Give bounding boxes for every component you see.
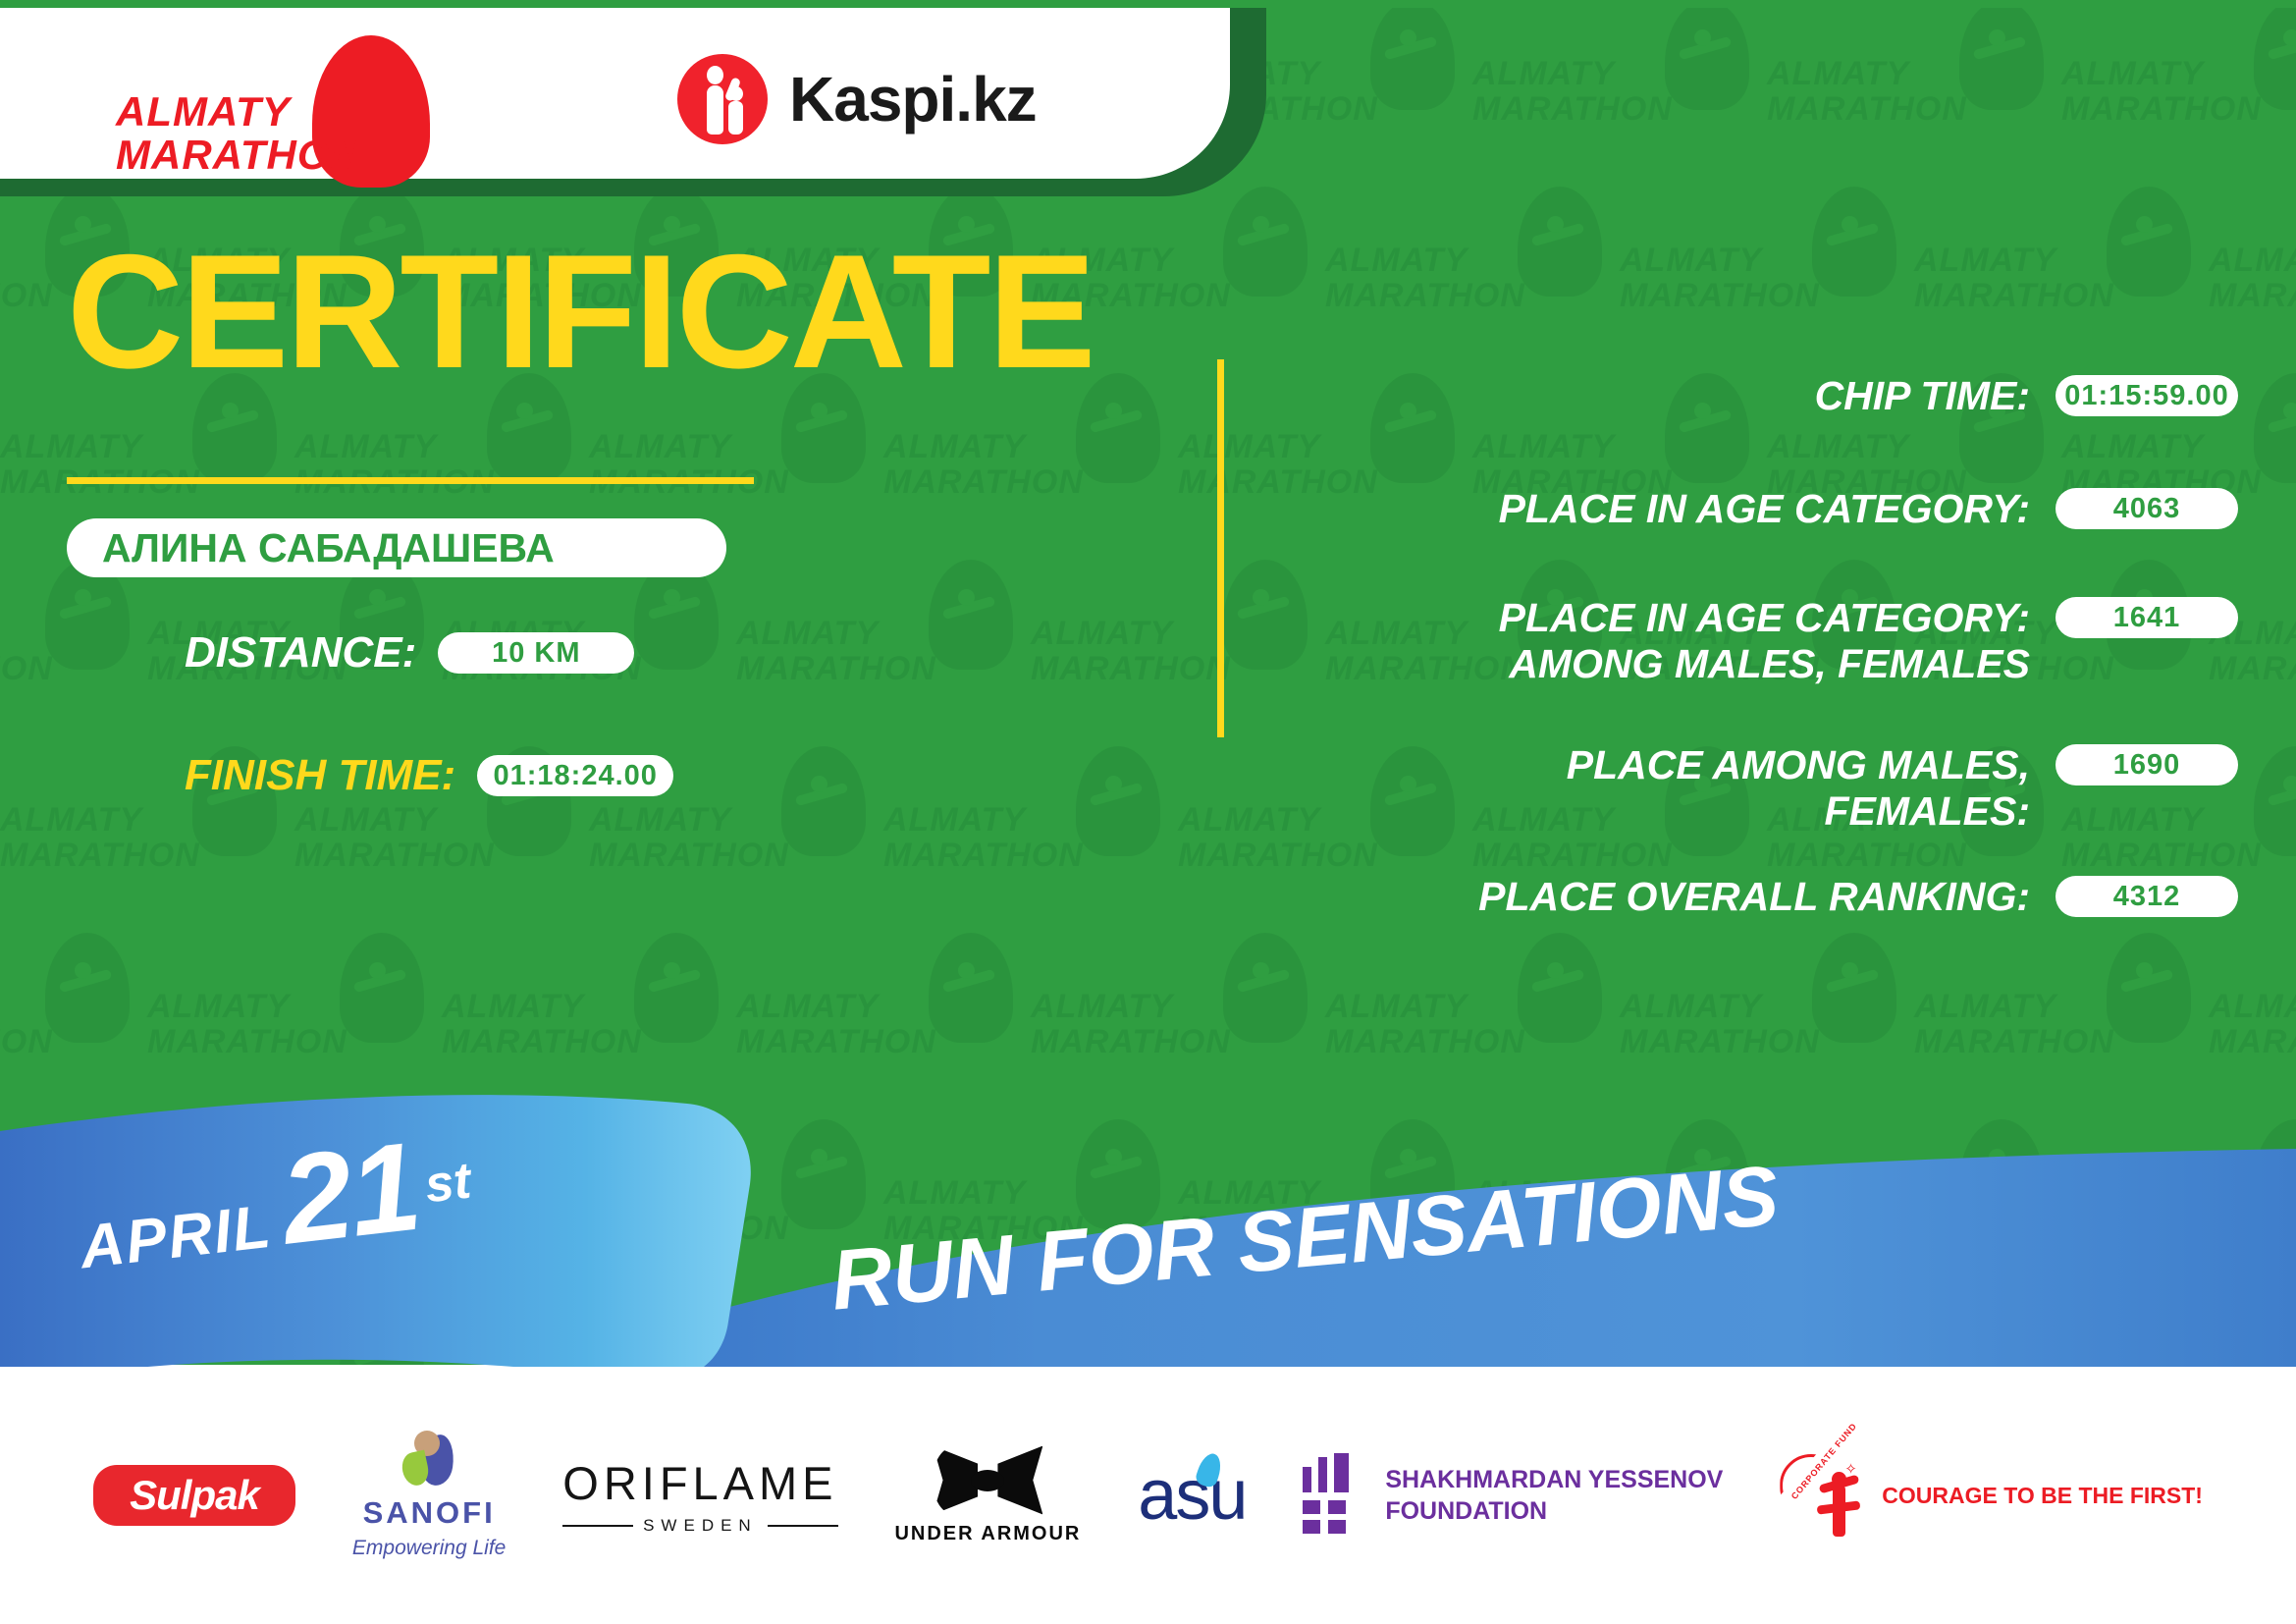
watermark-tile: ALMATYMARATHON [1767, 1119, 2061, 1306]
finish-time-label: FINISH TIME: [185, 751, 455, 800]
stat-row-chip-time: CHIP TIME: 01:15:59.00 [1237, 373, 2238, 419]
watermark-tile: ALMATYMARATHON [147, 933, 442, 1119]
watermark-tile: ALMATYMARATHON [1620, 1306, 1914, 1365]
courage-wordmark: COURAGE TO BE THE FIRST! [1882, 1482, 2203, 1509]
watermark-tile: ALMATYMARATHON [736, 933, 1031, 1119]
watermark-tile: ALMATYMARATHON [2209, 1306, 2296, 1365]
almaty-marathon-wordmark: ALMATY MARATHON [116, 90, 361, 177]
kaspi-people-icon [677, 54, 768, 144]
oriflame-sub: SWEDEN [562, 1516, 837, 1536]
sponsor-asu: asu [1138, 1455, 1246, 1536]
watermark-tile: ALMATYMARATHON [1914, 187, 2209, 373]
watermark-tile: ALMATYMARATHON [442, 1306, 736, 1365]
stat-label: CHIP TIME: [1237, 373, 2056, 419]
stat-value: 1641 [2113, 602, 2181, 634]
marathon-line: MARATHON [116, 134, 361, 177]
watermark-tile: ALMATYMARATHON [1914, 1306, 2209, 1365]
watermark-tile: ALMATYMARATHON [2061, 0, 2296, 187]
participant-name-field: АЛИНА САБАДАШЕВА [67, 518, 726, 577]
participant-name-value: АЛИНА САБАДАШЕВА [67, 525, 555, 571]
stat-row-place-overall-ranking: PLACE OVERALL RANKING: 4312 [1237, 874, 2238, 920]
watermark-tile: ALMATYMARATHON [736, 560, 1031, 746]
sponsor-bar: Sulpak SANOFI Empowering Life ORIFLAME S… [0, 1367, 2296, 1624]
yessenov-icon [1303, 1453, 1363, 1538]
watermark-tile: ALMATYMARATHON [1325, 933, 1620, 1119]
watermark-tile: ALMATYMARATHON [883, 746, 1178, 933]
vertical-divider [1217, 359, 1224, 737]
sponsor-sanofi: SANOFI Empowering Life [352, 1431, 506, 1560]
title-underline [67, 477, 754, 484]
watermark-tile: ALMATYMARATHON [1620, 933, 1914, 1119]
watermark-tile: ALMATYMARATHON [1031, 933, 1325, 1119]
watermark-tile: ALMATYMARATHON [883, 1119, 1178, 1306]
asu-wordmark: asu [1138, 1455, 1246, 1536]
watermark-tile: ALMATYMARATHON [2209, 933, 2296, 1119]
yessenov-wordmark: SHAKHMARDAN YESSENOV FOUNDATION [1385, 1464, 1723, 1527]
sponsor-under-armour: UNDER ARMOUR [894, 1446, 1081, 1545]
watermark-tile: ALMATYMARATHON [147, 1306, 442, 1365]
sponsor-courage-fund: CORPORATE FUND ✧ COURAGE TO BE THE FIRST… [1780, 1450, 2203, 1541]
finish-time-value-pill: 01:18:24.00 [477, 755, 673, 796]
sponsor-yessenov-foundation: SHAKHMARDAN YESSENOV FOUNDATION [1303, 1453, 1723, 1538]
oriflame-country: SWEDEN [643, 1516, 758, 1536]
watermark-tile: ALMATYMARATHON [1031, 1306, 1325, 1365]
stat-value-pill: 1690 [2056, 744, 2238, 785]
watermark-tile: ALMATYMARATHON [2061, 1119, 2296, 1306]
stat-row-place-age-category: PLACE IN AGE CATEGORY: 4063 [1237, 486, 2238, 532]
stat-label: PLACE AMONG MALES, FEMALES: [1237, 742, 2056, 835]
yessenov-line2: FOUNDATION [1385, 1495, 1723, 1527]
sanofi-icon [399, 1431, 459, 1489]
watermark-tile: ALMATYMARATHON [1767, 0, 2061, 187]
watermark-tile: ALMATYMARATHON [1325, 187, 1620, 373]
stat-value: 1690 [2113, 749, 2181, 782]
distance-label: DISTANCE: [185, 628, 416, 677]
under-armour-wordmark: UNDER ARMOUR [894, 1523, 1081, 1545]
watermark-tile: ALMATYMARATHON [1472, 0, 1767, 187]
stat-row-place-age-category-among: PLACE IN AGE CATEGORY: AMONG MALES, FEMA… [1237, 595, 2238, 687]
distance-row: DISTANCE: 10 KM [185, 628, 634, 677]
watermark-tile: ALMATYMARATHON [0, 560, 147, 746]
watermark-tile: ALMATYMARATHON [1914, 933, 2209, 1119]
sulpak-logo: Sulpak [93, 1465, 295, 1526]
stat-value: 4312 [2113, 881, 2181, 913]
watermark-tile: ALMATYMARATHON [1178, 1119, 1472, 1306]
distance-value-pill: 10 KM [438, 632, 634, 674]
watermark-tile: ALMATYMARATHON [294, 1119, 589, 1306]
watermark-tile: ALMATYMARATHON [0, 1306, 147, 1365]
stat-value-pill: 01:15:59.00 [2056, 375, 2238, 416]
stat-label: PLACE OVERALL RANKING: [1237, 874, 2056, 920]
stat-value: 4063 [2113, 493, 2181, 525]
stat-value-pill: 1641 [2056, 597, 2238, 638]
almaty-line: ALMATY [116, 90, 361, 134]
watermark-tile: ALMATYMARATHON [1325, 1306, 1620, 1365]
stat-value-pill: 4312 [2056, 876, 2238, 917]
sponsor-oriflame: ORIFLAME SWEDEN [562, 1456, 837, 1536]
almaty-marathon-logo: ALMATY MARATHON [116, 43, 440, 161]
certificate-page: ALMATYMARATHONALMATYMARATHONALMATYMARATH… [0, 0, 2296, 1624]
oriflame-wordmark: ORIFLAME [562, 1456, 837, 1510]
watermark-tile: ALMATYMARATHON [0, 1119, 294, 1306]
page-title: CERTIFICATE [67, 238, 1094, 385]
watermark-tile: ALMATYMARATHON [736, 1306, 1031, 1365]
distance-value: 10 KM [492, 637, 580, 670]
header-top-strip [0, 0, 2296, 8]
kaspi-logo: Kaspi.kz [677, 54, 1037, 144]
finish-time-row: FINISH TIME: 01:18:24.00 [185, 751, 673, 800]
stat-label: PLACE IN AGE CATEGORY: [1237, 486, 2056, 532]
watermark-tile: ALMATYMARATHON [1472, 1119, 1767, 1306]
sanofi-tagline: Empowering Life [352, 1537, 506, 1560]
stat-value: 01:15:59.00 [2064, 380, 2228, 412]
watermark-tile: ALMATYMARATHON [442, 933, 736, 1119]
watermark-tile: ALMATYMARATHON [1620, 187, 1914, 373]
stat-label: PLACE IN AGE CATEGORY: AMONG MALES, FEMA… [1237, 595, 2056, 687]
sponsor-sulpak: Sulpak [93, 1465, 295, 1526]
stat-row-place-among-males-females: PLACE AMONG MALES, FEMALES: 1690 [1237, 742, 2238, 835]
sanofi-wordmark: SANOFI [363, 1495, 496, 1531]
kaspi-wordmark: Kaspi.kz [789, 63, 1037, 135]
courage-figure-icon: CORPORATE FUND ✧ [1780, 1450, 1868, 1541]
finish-time-value: 01:18:24.00 [494, 760, 658, 792]
yessenov-line1: SHAKHMARDAN YESSENOV [1385, 1464, 1723, 1495]
watermark-tile: ALMATYMARATHON [0, 933, 147, 1119]
stat-value-pill: 4063 [2056, 488, 2238, 529]
under-armour-icon [933, 1446, 1042, 1515]
watermark-tile: ALMATYMARATHON [589, 1119, 883, 1306]
watermark-tile: ALMATYMARATHON [2209, 187, 2296, 373]
